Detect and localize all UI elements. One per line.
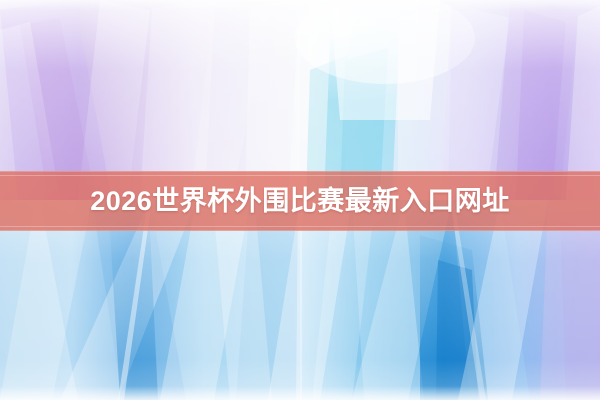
title-band: 2026世界杯外围比赛最新入口网址 bbox=[0, 171, 600, 231]
banner-title: 2026世界杯外围比赛最新入口网址 bbox=[90, 188, 510, 215]
banner-image: 2026世界杯外围比赛最新入口网址 bbox=[0, 0, 600, 400]
background-top-half bbox=[0, 0, 600, 200]
